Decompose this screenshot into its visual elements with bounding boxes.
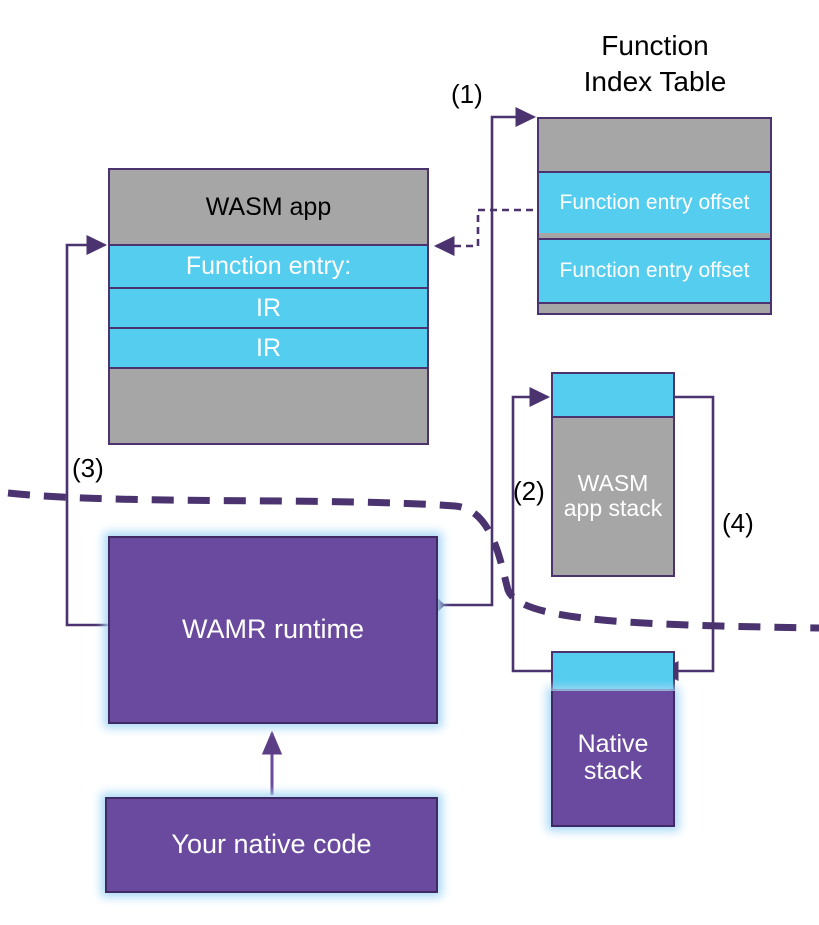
step-label-4: (4) xyxy=(722,508,754,539)
wasm-app-stack-block[interactable]: WASM app stack xyxy=(551,372,675,577)
wasm-app-function-entry-cell[interactable]: Function entry: xyxy=(110,244,427,289)
connector-step-1 xyxy=(438,117,534,605)
fit-row-1-label: Function entry offset xyxy=(539,173,770,233)
wasm-app-stack-label-line-1: WASM xyxy=(578,471,649,496)
fit-title-line-2: Index Table xyxy=(540,64,770,100)
wasm-app-stack-body: WASM app stack xyxy=(553,418,673,574)
step-label-2: (2) xyxy=(513,476,545,507)
native-stack-label-line-2: stack xyxy=(584,758,642,785)
wamr-runtime-label: WAMR runtime xyxy=(110,538,436,722)
function-index-table[interactable]: Function entry offset Function entry off… xyxy=(537,117,772,315)
fit-row-separator-1 xyxy=(539,233,770,240)
wasm-app-empty-bottom-cell xyxy=(110,369,427,442)
native-stack-top-band xyxy=(551,651,675,691)
wasm-app-ir-label-1: IR xyxy=(110,289,427,327)
wasm-app-stack-label: WASM app stack xyxy=(553,418,673,574)
native-stack-label: Native stack xyxy=(553,691,673,825)
fit-row-separator-2 xyxy=(539,302,770,310)
your-native-code-block[interactable]: Your native code xyxy=(105,797,438,893)
fit-row-2-label: Function entry offset xyxy=(539,240,770,302)
wasm-app-stack-top-band xyxy=(553,374,673,418)
your-native-code-label: Your native code xyxy=(107,799,436,891)
fit-title-line-1: Function xyxy=(540,28,770,64)
step-label-3: (3) xyxy=(72,453,104,484)
wasm-app-ir-label-2: IR xyxy=(110,329,427,367)
native-stack-block[interactable]: Native stack xyxy=(551,691,675,827)
diagram-canvas: Function Index Table Function entry offs… xyxy=(0,0,819,925)
wasm-app-ir-cell-1[interactable]: IR xyxy=(110,289,427,329)
function-index-table-title: Function Index Table xyxy=(540,28,770,100)
wasm-app-header-label: WASM app xyxy=(110,170,427,244)
native-stack-label-line-1: Native xyxy=(578,731,649,758)
step-label-1: (1) xyxy=(451,79,483,110)
wasm-app-stack-label-line-2: app stack xyxy=(564,496,662,521)
fit-empty-top-cell xyxy=(539,119,770,171)
fit-row-function-entry-offset-1[interactable]: Function entry offset xyxy=(539,171,770,233)
wasm-app-header-cell: WASM app xyxy=(110,170,427,244)
wasm-app-function-entry-label: Function entry: xyxy=(110,246,427,287)
fit-row-function-entry-offset-2[interactable]: Function entry offset xyxy=(539,240,770,302)
wamr-runtime-block[interactable]: WAMR runtime xyxy=(108,536,438,724)
wasm-app-block[interactable]: WASM app Function entry: IR IR xyxy=(108,168,429,445)
wasm-app-ir-cell-2[interactable]: IR xyxy=(110,329,427,369)
